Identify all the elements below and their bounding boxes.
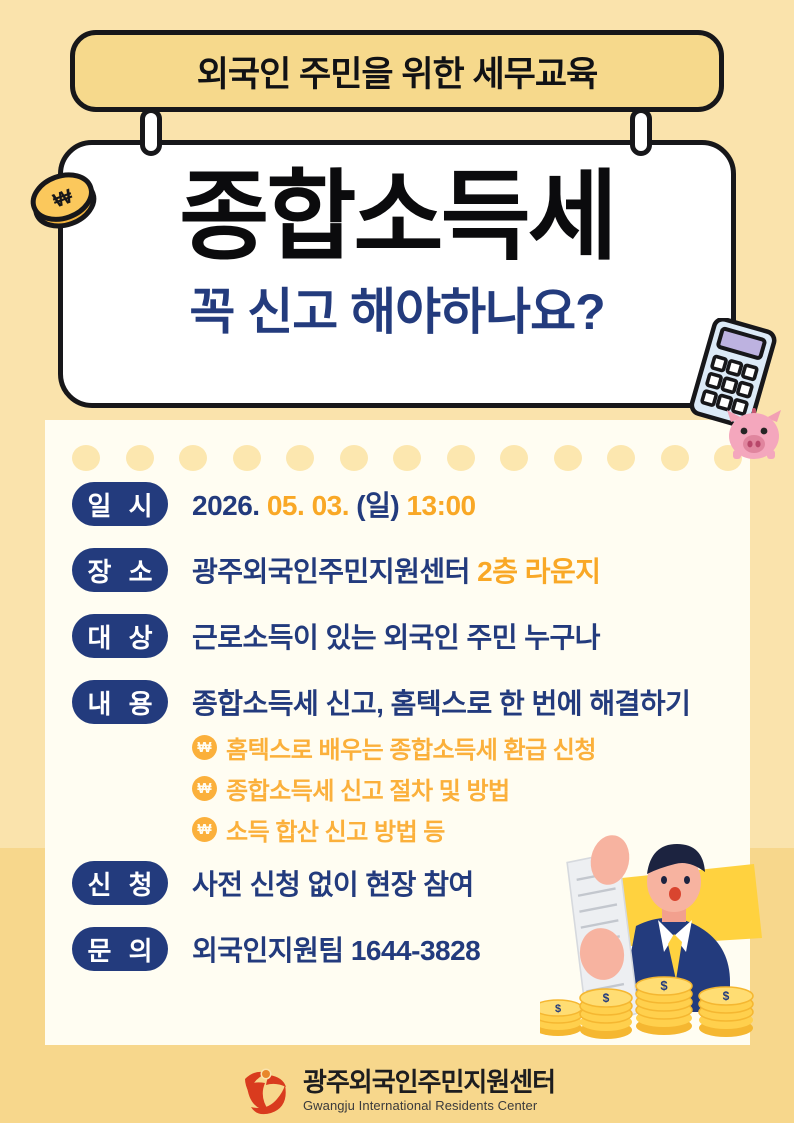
won-circle-icon: ₩ — [192, 735, 217, 760]
svg-text:$: $ — [603, 991, 610, 1005]
info-row-audience: 대 상 근로소득이 있는 외국인 주민 누구나 — [72, 614, 732, 658]
bullet-item: ₩ 소득 합산 신고 방법 등 — [192, 812, 732, 847]
divider-dot — [447, 445, 475, 471]
divider-dot — [72, 445, 100, 471]
banner-connector-pin-right — [630, 108, 652, 156]
header-banner-text: 외국인 주민을 위한 세무교육 — [197, 46, 598, 97]
content-bullet-list: ₩ 홈텍스로 배우는 종합소득세 환급 신청 ₩ 종합소득세 신고 절차 및 방… — [192, 730, 732, 847]
divider-dot — [554, 445, 582, 471]
info-value-datetime: 2026. 05. 03. (일) 13:00 — [192, 484, 476, 524]
info-value-application: 사전 신청 없이 현장 참여 — [192, 863, 474, 903]
won-circle-icon: ₩ — [192, 776, 217, 801]
organization-name-en: Gwangju International Residents Center — [303, 1099, 555, 1113]
info-label-contact: 문 의 — [72, 927, 168, 971]
organization-name-kr: 광주외국인주민지원센터 — [303, 1069, 555, 1096]
info-value-audience: 근로소득이 있는 외국인 주민 누구나 — [192, 616, 600, 656]
info-label-content: 내 용 — [72, 680, 168, 724]
organization-logo-icon — [239, 1065, 291, 1117]
divider-dot — [661, 445, 689, 471]
poster-subtitle: 꼭 신고 해야하나요? — [63, 287, 731, 337]
banner-connector-pin-left — [140, 108, 162, 156]
divider-dot — [179, 445, 207, 471]
piggy-bank-icon — [722, 400, 786, 464]
bullet-text: 소득 합산 신고 방법 등 — [226, 812, 445, 847]
bullet-text: 종합소득세 신고 절차 및 방법 — [226, 771, 510, 806]
info-label-audience: 대 상 — [72, 614, 168, 658]
footer-text-block: 광주외국인주민지원센터 Gwangju International Reside… — [303, 1069, 555, 1113]
info-value-contact: 외국인지원팀 1644-3828 — [192, 929, 480, 969]
won-circle-icon: ₩ — [192, 817, 217, 842]
info-row-contact: 문 의 외국인지원팀 1644-3828 — [72, 927, 732, 971]
info-row-location: 장 소 광주외국인주민지원센터 2층 라운지 — [72, 548, 732, 592]
footer: 광주외국인주민지원센터 Gwangju International Reside… — [0, 1062, 794, 1120]
info-label-application: 신 청 — [72, 861, 168, 905]
header-banner: 외국인 주민을 위한 세무교육 — [70, 30, 724, 112]
info-label-location: 장 소 — [72, 548, 168, 592]
divider-dot — [500, 445, 528, 471]
poster-root: 외국인 주민을 위한 세무교육 종합소득세 꼭 신고 해야하나요? ₩ — [0, 0, 794, 1123]
coin-won-icon: ₩ — [26, 168, 100, 230]
divider-dot — [286, 445, 314, 471]
dot-divider — [72, 444, 742, 472]
info-label-datetime: 일 시 — [72, 482, 168, 526]
divider-dot — [340, 445, 368, 471]
divider-dot — [126, 445, 154, 471]
info-value-location: 광주외국인주민지원센터 2층 라운지 — [192, 550, 601, 590]
info-row-content: 내 용 종합소득세 신고, 홈텍스로 한 번에 해결하기 — [72, 680, 732, 724]
poster-title: 종합소득세 — [63, 167, 731, 265]
info-row-application: 신 청 사전 신청 없이 현장 참여 — [72, 861, 732, 905]
bullet-text: 홈텍스로 배우는 종합소득세 환급 신청 — [226, 730, 596, 765]
bullet-item: ₩ 종합소득세 신고 절차 및 방법 — [192, 771, 732, 806]
info-row-datetime: 일 시 2026. 05. 03. (일) 13:00 — [72, 482, 732, 526]
divider-dot — [233, 445, 261, 471]
bullet-item: ₩ 홈텍스로 배우는 종합소득세 환급 신청 — [192, 730, 732, 765]
title-card: 종합소득세 꼭 신고 해야하나요? — [58, 140, 736, 408]
divider-dot — [607, 445, 635, 471]
svg-text:$: $ — [555, 1003, 561, 1015]
info-list: 일 시 2026. 05. 03. (일) 13:00 장 소 광주외국인주민지… — [72, 482, 732, 993]
divider-dot — [393, 445, 421, 471]
info-value-content: 종합소득세 신고, 홈텍스로 한 번에 해결하기 — [192, 682, 690, 722]
